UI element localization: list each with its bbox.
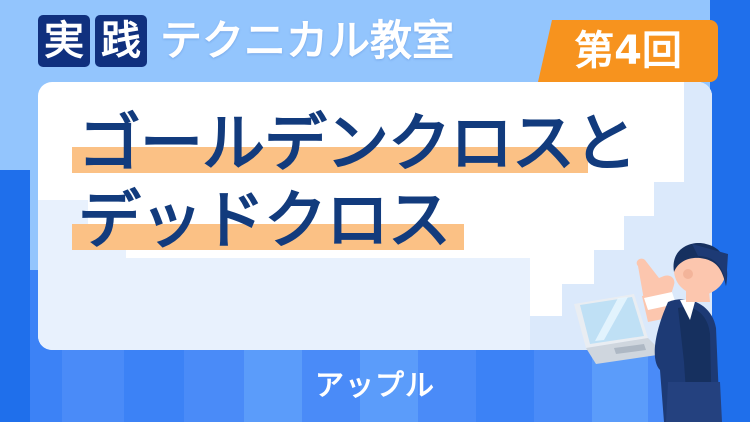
header: 実 践 テクニカル教室 <box>38 10 454 72</box>
kanji-box-jissen-1: 実 <box>38 15 90 67</box>
title-line-2: デッドクロス <box>78 189 636 252</box>
stair-step <box>126 258 530 350</box>
title-line-1-main: ゴールデンクロス <box>78 107 574 180</box>
title-line-2-main: デッドクロス <box>78 184 450 257</box>
title-line-1-suffix: と <box>574 107 636 180</box>
businessman-pointing-icon <box>560 242 750 422</box>
stair-step <box>530 316 562 350</box>
banner-root: 実 践 テクニカル教室 第4回 ゴールデンクロスと デッドクロス アップル <box>0 0 750 422</box>
episode-badge: 第4回 <box>538 20 718 82</box>
header-label: テクニカル教室 <box>160 20 454 62</box>
title-block: ゴールデンクロスと デッドクロス <box>78 112 636 266</box>
kanji-box-jissen-2: 践 <box>95 15 147 67</box>
title-line-1: ゴールデンクロスと <box>78 112 636 175</box>
